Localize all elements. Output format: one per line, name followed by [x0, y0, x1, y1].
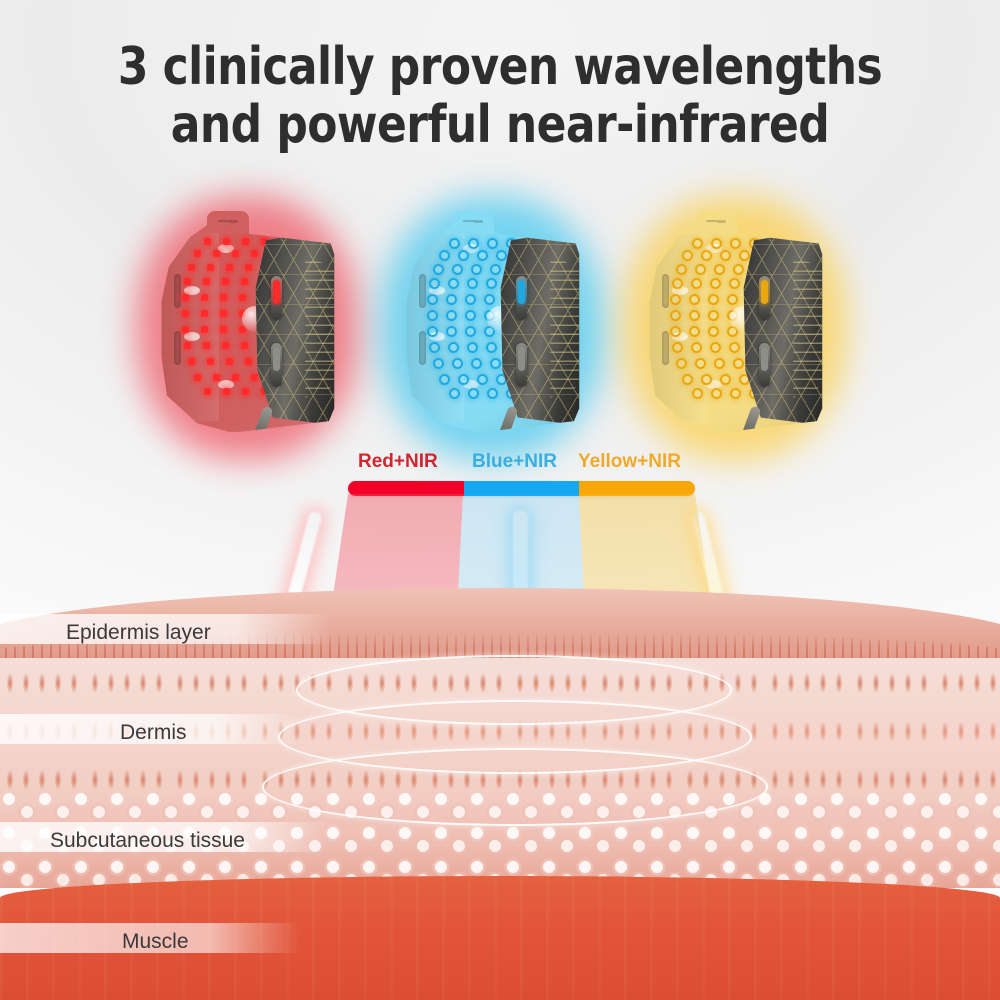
- led-indicator: [188, 264, 195, 271]
- chevron-pattern: [305, 256, 334, 398]
- led-indicator: [448, 342, 459, 353]
- led-indicator: [239, 294, 246, 301]
- led-indicator: [429, 278, 440, 289]
- led-indicator: [471, 358, 482, 369]
- strap-slot: [419, 274, 426, 308]
- led-indicator: [223, 238, 230, 245]
- led-indicator: [672, 278, 683, 289]
- led-indicator: [692, 388, 703, 399]
- led-indicator: [184, 278, 191, 285]
- headline-line-1: 3 clinically proven wavelengths: [30, 38, 970, 96]
- led-indicator: [427, 294, 438, 305]
- led-indicator: [222, 342, 229, 349]
- led-indicator: [226, 264, 233, 271]
- led-indicator: [739, 250, 750, 261]
- led-indicator: [203, 278, 210, 285]
- led-indicator: [695, 264, 706, 275]
- led-indicator: [465, 294, 476, 305]
- led-indicator: [730, 388, 741, 399]
- led-indicator: [465, 310, 476, 321]
- panel-button: [516, 343, 527, 387]
- led-indicator: [242, 238, 249, 245]
- led-indicator: [477, 374, 488, 385]
- depth-ring-3: [262, 748, 768, 826]
- led-indicator: [245, 264, 252, 271]
- muscle-label: Muscle: [108, 926, 203, 959]
- led-indicator: [468, 238, 479, 249]
- device-shell: [646, 220, 824, 434]
- chevron-pattern: [793, 256, 822, 398]
- led-indicator: [458, 374, 469, 385]
- subcutaneous-label: Subcutaneous tissue: [36, 825, 259, 858]
- led-indicator: [452, 264, 463, 275]
- led-indicator: [720, 374, 731, 385]
- led-indicator: [220, 326, 227, 333]
- led-indicator: [182, 310, 189, 317]
- led-indicator: [241, 278, 248, 285]
- led-indicator: [729, 278, 740, 289]
- led-indicator: [484, 294, 495, 305]
- led-indicator: [182, 294, 189, 301]
- led-indicator: [188, 358, 195, 365]
- strap-slot: [174, 331, 181, 365]
- led-indicator: [689, 310, 700, 321]
- strap-slot: [662, 331, 669, 365]
- led-indicator: [465, 326, 476, 337]
- led-indicator: [733, 264, 744, 275]
- led-indicator: [204, 238, 211, 245]
- led-indicator: [449, 388, 460, 399]
- led-indicator: [232, 250, 239, 257]
- led-indicator: [689, 294, 700, 305]
- led-indicator: [446, 326, 457, 337]
- panel-button: [759, 276, 770, 320]
- led-indicator: [708, 294, 719, 305]
- led-indicator: [467, 278, 478, 289]
- legend-label-blue: Blue+NIR: [472, 451, 557, 473]
- led-indicator: [207, 264, 214, 271]
- led-indicator: [708, 310, 719, 321]
- led-indicator: [676, 358, 687, 369]
- legend-label-yellow: Yellow+NIR: [578, 451, 681, 473]
- led-indicator: [691, 342, 702, 353]
- led-indicator: [241, 342, 248, 349]
- panel-button: [271, 343, 282, 387]
- device-shell: [158, 220, 336, 434]
- led-indicator: [471, 264, 482, 275]
- headline-line-2: and powerful near-infrared: [30, 96, 970, 154]
- strap-slot: [419, 331, 426, 365]
- led-indicator: [184, 342, 191, 349]
- led-indicator: [711, 238, 722, 249]
- led-indicator: [220, 294, 227, 301]
- panel-button: [759, 343, 770, 387]
- led-indicator: [692, 238, 703, 249]
- epidermis-label: Epidermis layer: [52, 617, 225, 650]
- led-indicator: [226, 358, 233, 365]
- strap-slot: [662, 274, 669, 308]
- led-indicator: [201, 326, 208, 333]
- led-indicator: [194, 250, 201, 257]
- led-indicator: [487, 388, 498, 399]
- led-indicator: [222, 278, 229, 285]
- led-indicator: [729, 342, 740, 353]
- led-indicator: [682, 374, 693, 385]
- led-indicator: [452, 358, 463, 369]
- led-indicator: [701, 250, 712, 261]
- page-title: 3 clinically proven wavelengths and powe…: [30, 38, 970, 154]
- led-indicator: [232, 374, 239, 381]
- panel-button: [516, 276, 527, 320]
- yellow-device: [640, 212, 830, 444]
- led-indicator: [490, 358, 501, 369]
- infographic-canvas: 3 clinically proven wavelengths and powe…: [0, 0, 1000, 1000]
- led-indicator: [207, 358, 214, 365]
- led-indicator: [682, 250, 693, 261]
- led-indicator: [710, 342, 721, 353]
- led-indicator: [691, 278, 702, 289]
- red-device: [152, 212, 342, 444]
- led-indicator: [182, 326, 189, 333]
- led-indicator: [439, 250, 450, 261]
- led-indicator: [701, 374, 712, 385]
- led-indicator: [223, 388, 230, 395]
- chevron-pattern: [550, 256, 579, 398]
- led-indicator: [486, 278, 497, 289]
- led-indicator: [670, 294, 681, 305]
- led-indicator: [711, 388, 722, 399]
- led-indicator: [449, 238, 460, 249]
- led-indicator: [708, 326, 719, 337]
- led-indicator: [730, 238, 741, 249]
- led-indicator: [213, 250, 220, 257]
- dermis-label: Dermis: [106, 717, 201, 750]
- led-indicator: [429, 342, 440, 353]
- led-indicator: [201, 310, 208, 317]
- led-indicator: [446, 310, 457, 321]
- led-indicator: [439, 374, 450, 385]
- led-indicator: [714, 264, 725, 275]
- led-indicator: [676, 264, 687, 275]
- led-indicator: [213, 374, 220, 381]
- led-indicator: [220, 310, 227, 317]
- led-indicator: [490, 264, 501, 275]
- panel-button: [271, 276, 282, 320]
- blue-device: [397, 212, 587, 444]
- strap-slot: [174, 274, 181, 308]
- device-shell: [403, 220, 581, 434]
- led-indicator: [733, 358, 744, 369]
- led-indicator: [672, 342, 683, 353]
- legend-label-red: Red+NIR: [358, 451, 438, 473]
- led-indicator: [251, 250, 258, 257]
- led-indicator: [251, 374, 258, 381]
- led-indicator: [496, 250, 507, 261]
- led-indicator: [487, 238, 498, 249]
- led-indicator: [427, 326, 438, 337]
- led-indicator: [448, 278, 459, 289]
- led-indicator: [194, 374, 201, 381]
- led-indicator: [710, 278, 721, 289]
- led-indicator: [695, 358, 706, 369]
- led-indicator: [433, 264, 444, 275]
- led-indicator: [486, 342, 497, 353]
- led-indicator: [203, 342, 210, 349]
- led-indicator: [670, 326, 681, 337]
- led-indicator: [458, 250, 469, 261]
- led-indicator: [720, 250, 731, 261]
- contact-pad: [184, 332, 200, 341]
- led-indicator: [242, 388, 249, 395]
- led-indicator: [467, 342, 478, 353]
- led-indicator: [477, 250, 488, 261]
- led-indicator: [204, 388, 211, 395]
- led-indicator: [427, 310, 438, 321]
- led-indicator: [446, 294, 457, 305]
- led-indicator: [727, 294, 738, 305]
- led-indicator: [670, 310, 681, 321]
- led-indicator: [433, 358, 444, 369]
- led-indicator: [245, 358, 252, 365]
- led-indicator: [468, 388, 479, 399]
- led-indicator: [689, 326, 700, 337]
- led-indicator: [714, 358, 725, 369]
- led-indicator: [201, 294, 208, 301]
